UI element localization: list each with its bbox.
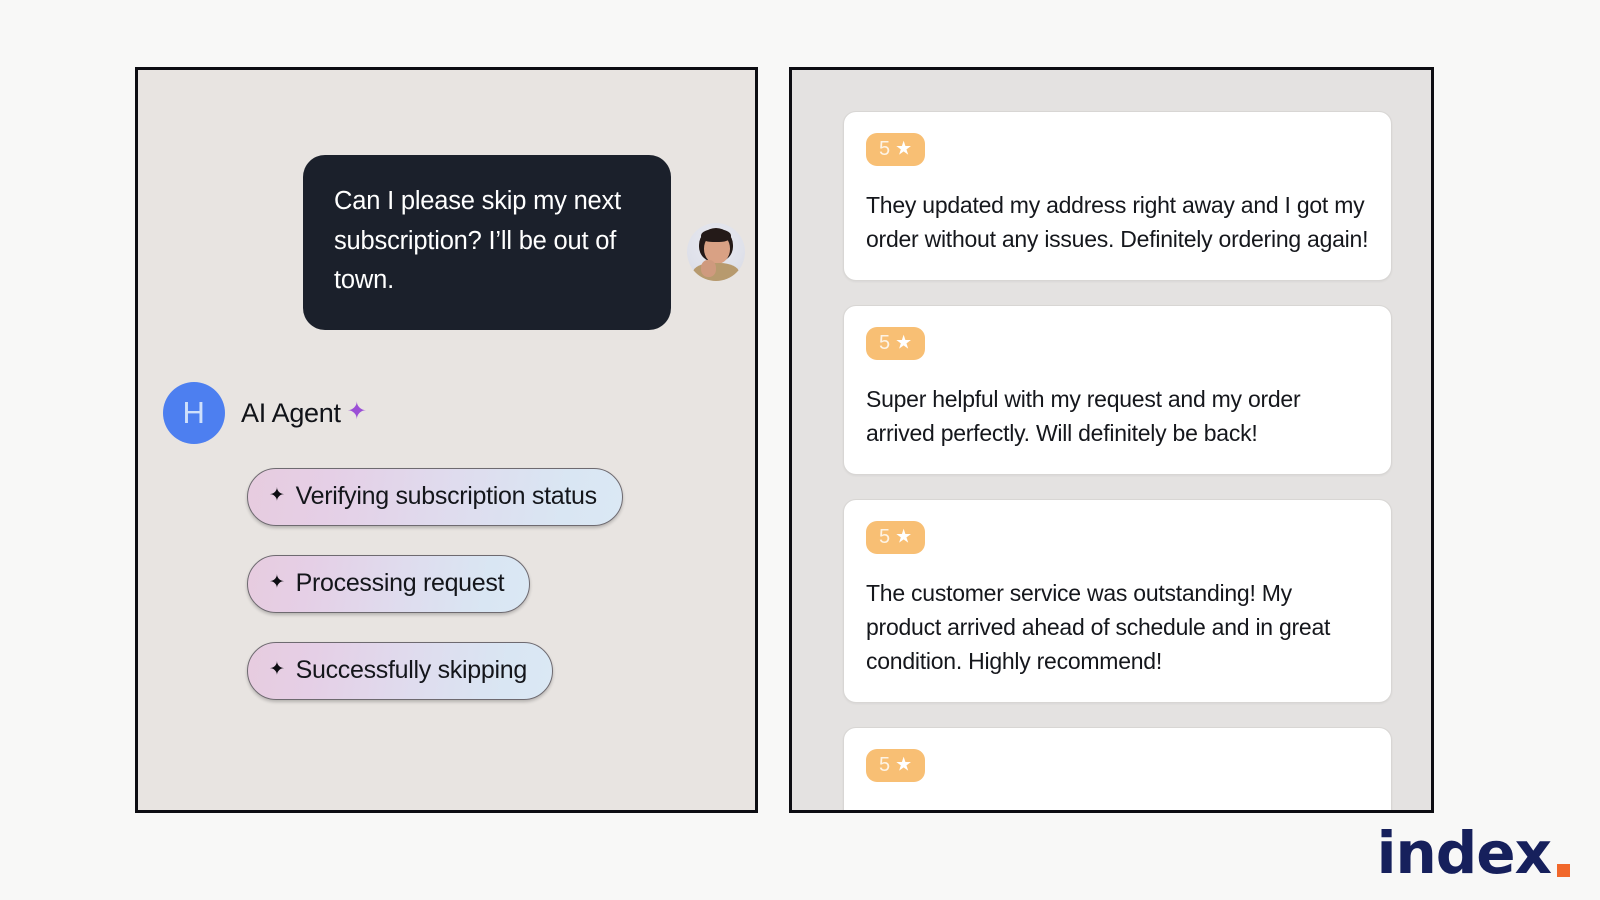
user-avatar xyxy=(687,223,745,281)
review-text: They updated my address right away and I… xyxy=(866,188,1369,256)
agent-avatar-initial: H xyxy=(163,382,225,444)
sparkle-icon: ✦ xyxy=(269,660,285,679)
review-card: 5 ★ Impressive experience! My questions … xyxy=(843,727,1392,813)
reviews-scroll-area[interactable]: 5 ★ They updated my address right away a… xyxy=(792,70,1431,813)
avatar-bangs xyxy=(701,229,731,242)
star-icon: ★ xyxy=(895,333,912,352)
star-icon: ★ xyxy=(895,755,912,774)
agent-name: AI Agent ✦ xyxy=(241,398,367,429)
star-icon: ★ xyxy=(895,527,912,546)
review-card: 5 ★ Super helpful with my request and my… xyxy=(843,305,1392,475)
user-message-bubble: Can I please skip my next subscription? … xyxy=(303,155,671,330)
chat-panel-inner: Can I please skip my next subscription? … xyxy=(138,70,755,810)
avatar-body xyxy=(693,263,739,281)
status-chip-verifying[interactable]: ✦ Verifying subscription status xyxy=(247,468,623,526)
rating-value: 5 xyxy=(879,139,890,159)
review-text: Impressive experience! My questions were xyxy=(866,804,1369,813)
chat-panel: Can I please skip my next subscription? … xyxy=(135,67,758,813)
review-card: 5 ★ The customer service was outstanding… xyxy=(843,499,1392,703)
rating-value: 5 xyxy=(879,755,890,775)
status-chip-label: Processing request xyxy=(296,569,505,598)
brand-dot-icon xyxy=(1557,864,1570,877)
brand-logo: index xyxy=(1377,824,1570,882)
sparkle-icon: ✦ xyxy=(269,486,285,505)
status-chip-skipping[interactable]: ✦ Successfully skipping xyxy=(247,642,553,700)
reviews-panel: 5 ★ They updated my address right away a… xyxy=(789,67,1434,813)
agent-name-label: AI Agent xyxy=(241,398,341,429)
rating-value: 5 xyxy=(879,333,890,353)
avatar-hand xyxy=(701,260,716,277)
status-chip-label: Verifying subscription status xyxy=(296,482,597,511)
rating-badge: 5 ★ xyxy=(866,749,925,782)
sparkle-icon: ✦ xyxy=(269,573,285,592)
sparkles-icon: ✦ xyxy=(347,400,367,424)
rating-badge: 5 ★ xyxy=(866,133,925,166)
rating-value: 5 xyxy=(879,527,890,547)
review-text: Super helpful with my request and my ord… xyxy=(866,382,1369,450)
user-message-row: Can I please skip my next subscription? … xyxy=(138,155,745,330)
review-text: The customer service was outstanding! My… xyxy=(866,576,1369,678)
status-chip-processing[interactable]: ✦ Processing request xyxy=(247,555,530,613)
status-chip-label: Successfully skipping xyxy=(296,656,527,685)
agent-header: H AI Agent ✦ xyxy=(163,382,367,444)
rating-badge: 5 ★ xyxy=(866,327,925,360)
rating-badge: 5 ★ xyxy=(866,521,925,554)
review-card: 5 ★ They updated my address right away a… xyxy=(843,111,1392,281)
status-chip-list: ✦ Verifying subscription status ✦ Proces… xyxy=(247,468,623,700)
star-icon: ★ xyxy=(895,139,912,158)
brand-wordmark: index xyxy=(1377,824,1551,882)
